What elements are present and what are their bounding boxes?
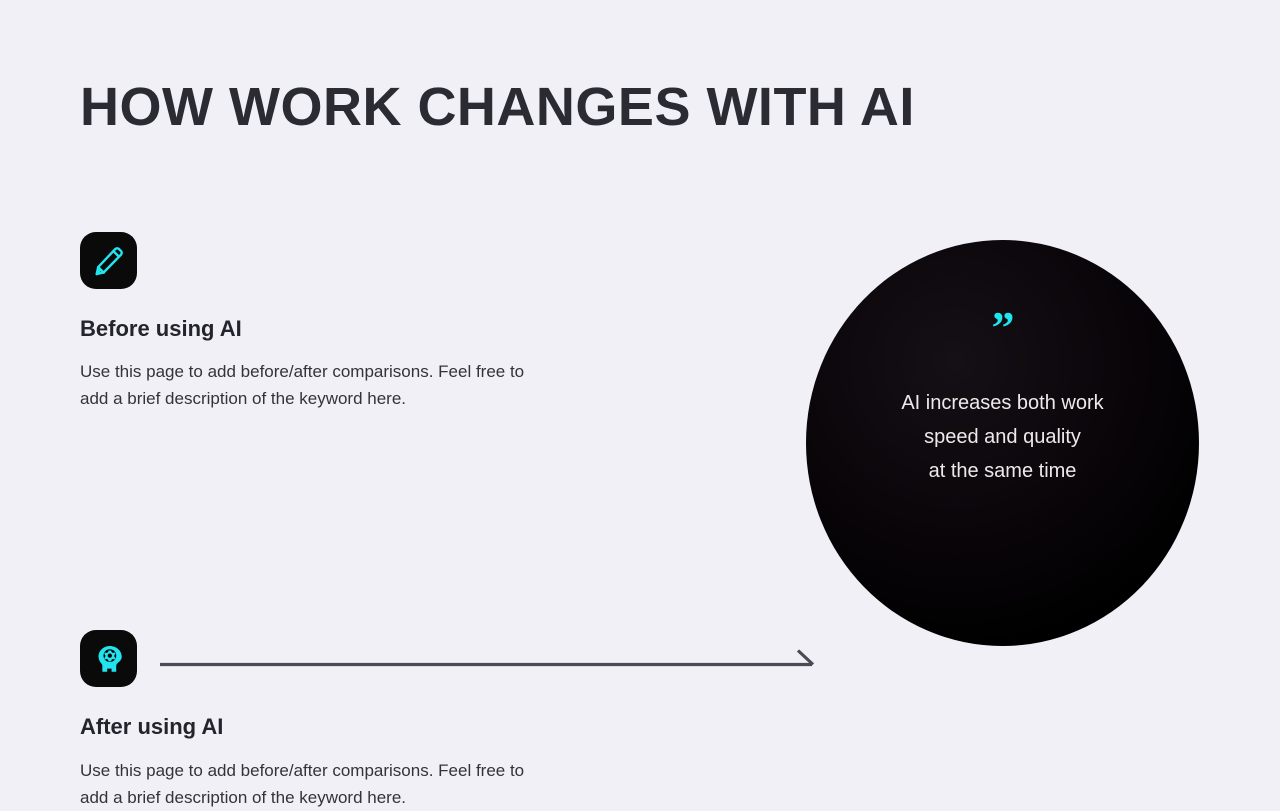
head-gear-icon-tile [80, 630, 137, 687]
quote-line-2: speed and quality [853, 420, 1153, 454]
quote-card: ” AI increases both work speed and quali… [806, 240, 1199, 646]
feature-block-before: Before using AI Use this page to add bef… [80, 232, 740, 412]
feature-list: Before using AI Use this page to add bef… [80, 232, 740, 811]
feature-heading-after: After using AI [80, 714, 740, 740]
quote-line-1: AI increases both work [853, 386, 1153, 420]
quote-mark-icon: ” [992, 318, 1014, 338]
feature-body-before: Use this page to add before/after compar… [80, 358, 550, 412]
quote-text: AI increases both work speed and quality… [853, 386, 1153, 488]
feature-block-after: After using AI Use this page to add befo… [80, 630, 740, 810]
pencil-icon [92, 244, 126, 278]
head-gear-icon [92, 642, 126, 676]
pencil-icon-tile [80, 232, 137, 289]
quote-line-3: at the same time [853, 454, 1153, 488]
feature-heading-before: Before using AI [80, 316, 740, 342]
page-title: HOW WORK CHANGES WITH AI [80, 78, 915, 137]
feature-body-after: Use this page to add before/after compar… [80, 757, 550, 811]
